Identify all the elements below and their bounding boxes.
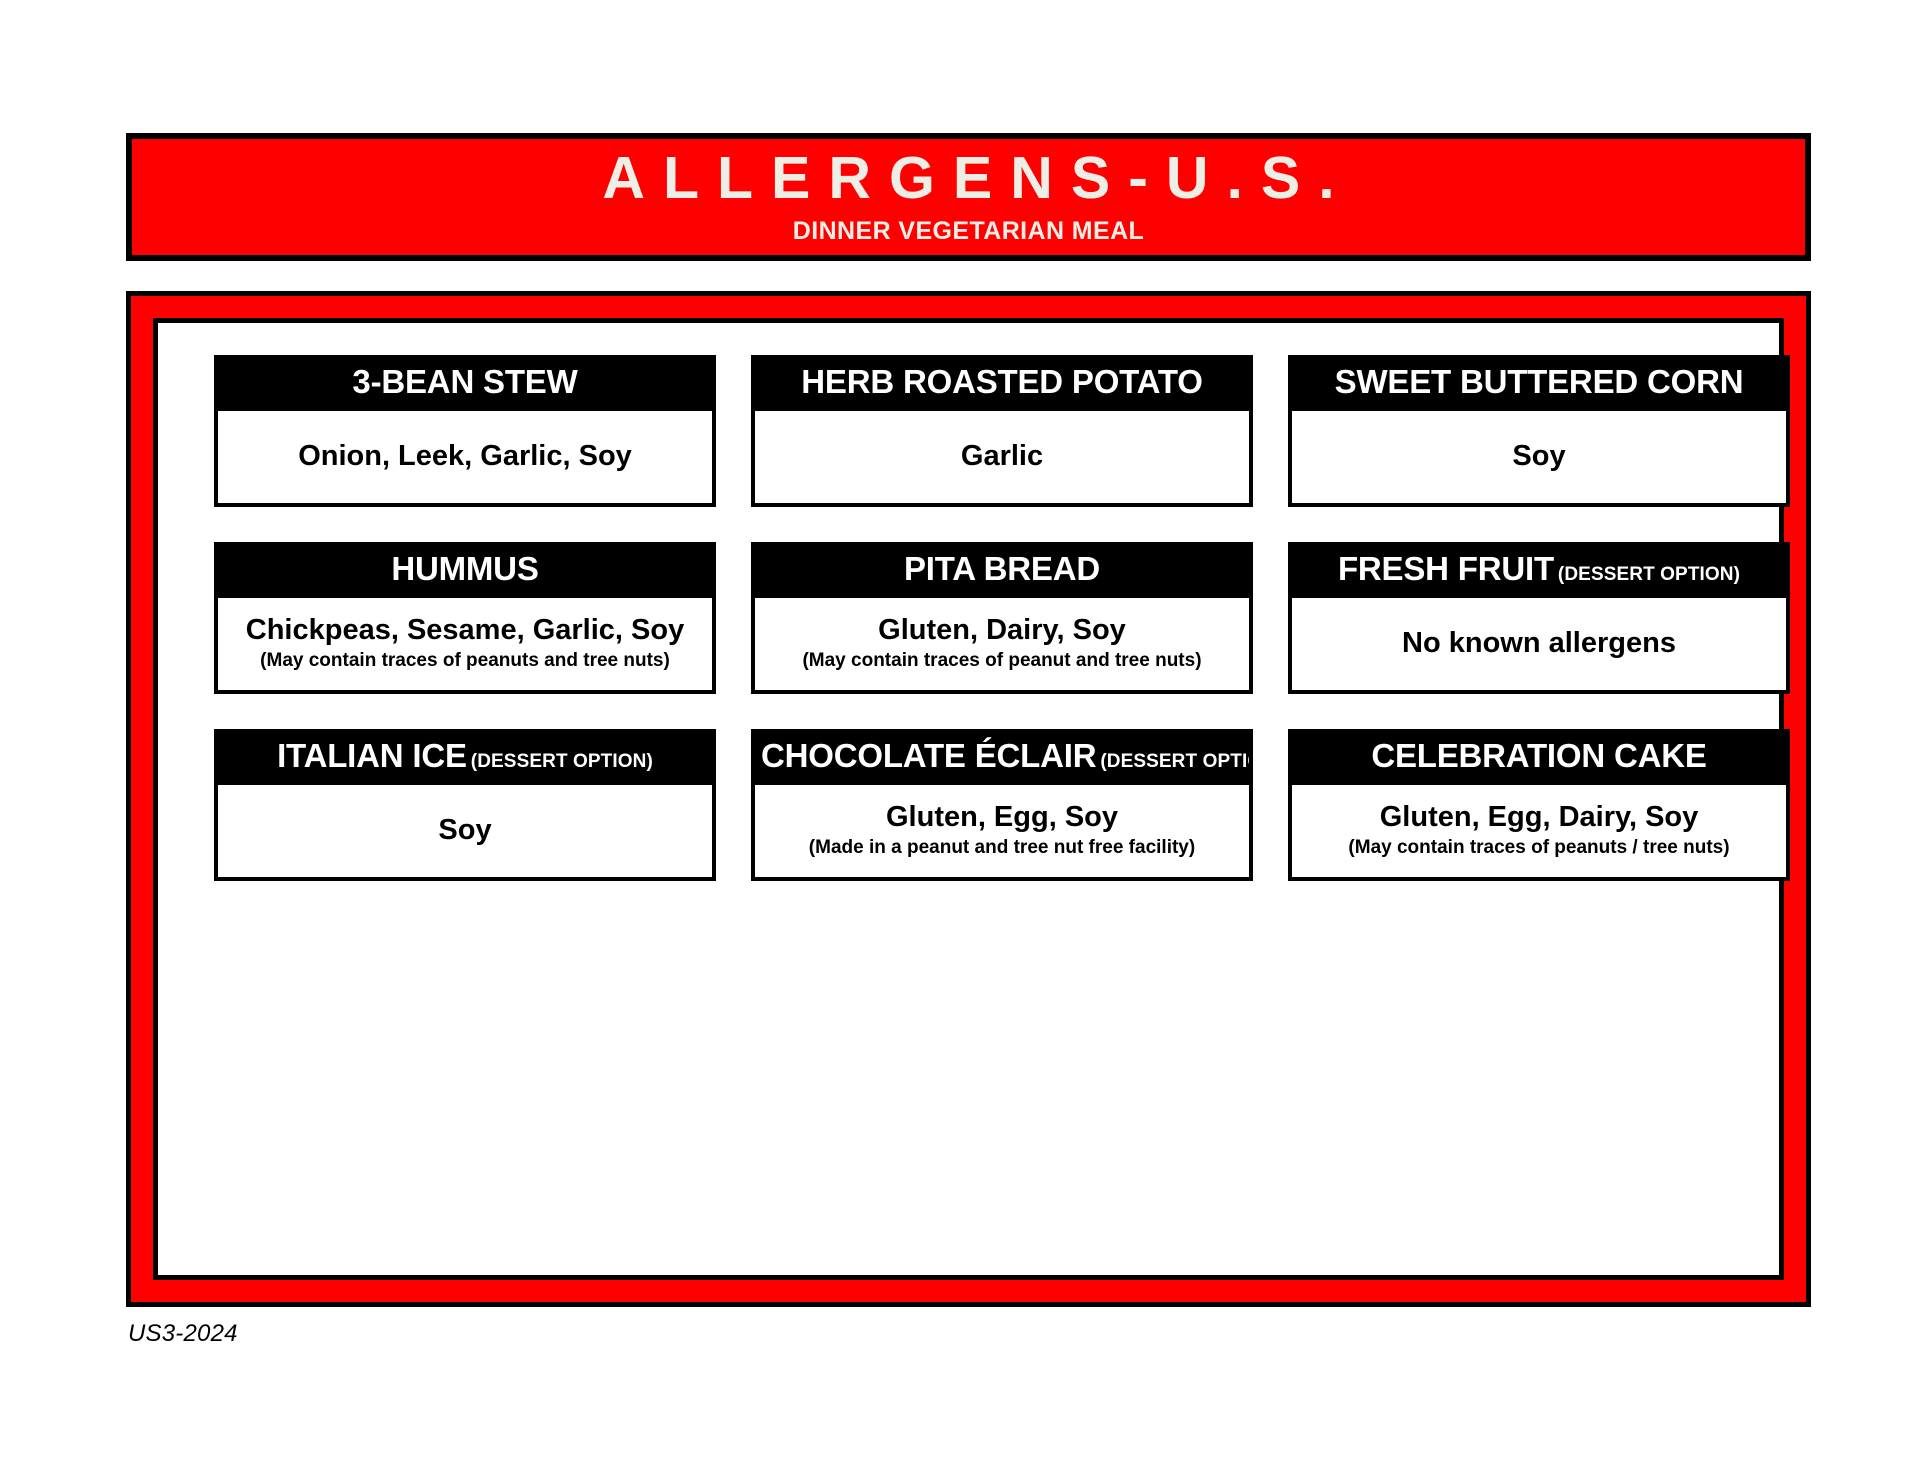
allergen-list: Garlic	[961, 441, 1043, 473]
menu-item-allergen-body: Garlic	[755, 407, 1249, 503]
menu-item-header: HUMMUS	[218, 546, 712, 594]
content-frame-outer: 3-BEAN STEWOnion, Leek, Garlic, SoyHERB …	[126, 291, 1811, 1307]
menu-item-header: CHOCOLATE ÉCLAIR(DESSERT OPTION)	[755, 733, 1249, 781]
menu-item-card: CHOCOLATE ÉCLAIR(DESSERT OPTION)Gluten, …	[751, 729, 1253, 881]
document-code: US3-2024	[128, 1320, 238, 1348]
menu-item-header: ITALIAN ICE(DESSERT OPTION)	[218, 733, 712, 781]
menu-item-header: HERB ROASTED POTATO	[755, 359, 1249, 407]
content-frame-inner: 3-BEAN STEWOnion, Leek, Garlic, SoyHERB …	[153, 318, 1784, 1280]
menu-item-allergen-body: Chickpeas, Sesame, Garlic, Soy(May conta…	[218, 594, 712, 690]
menu-item-name: CELEBRATION CAKE	[1371, 737, 1706, 774]
menu-item-card: CELEBRATION CAKEGluten, Egg, Dairy, Soy(…	[1288, 729, 1790, 881]
allergen-list: Soy	[438, 815, 491, 847]
menu-item-name: SWEET BUTTERED CORN	[1335, 363, 1744, 400]
menu-item-name: HERB ROASTED POTATO	[801, 363, 1202, 400]
allergen-note: (May contain traces of peanuts / tree nu…	[1348, 838, 1729, 859]
menu-item-suffix: (DESSERT OPTION)	[471, 751, 653, 772]
menu-item-suffix: (DESSERT OPTION)	[1100, 751, 1249, 772]
menu-item-suffix: (DESSERT OPTION)	[1558, 564, 1740, 585]
menu-item-name: ITALIAN ICE	[277, 737, 467, 774]
menu-item-allergen-body: Gluten, Egg, Dairy, Soy(May contain trac…	[1292, 781, 1786, 877]
menu-item-allergen-body: Onion, Leek, Garlic, Soy	[218, 407, 712, 503]
allergen-list: Gluten, Egg, Soy	[886, 802, 1118, 834]
menu-item-name: HUMMUS	[391, 550, 538, 587]
menu-item-name: PITA BREAD	[904, 550, 1100, 587]
allergen-list: No known allergens	[1402, 628, 1676, 660]
menu-item-allergen-body: Soy	[218, 781, 712, 877]
menu-item-card: HERB ROASTED POTATOGarlic	[751, 355, 1253, 507]
menu-item-allergen-body: Gluten, Egg, Soy(Made in a peanut and tr…	[755, 781, 1249, 877]
menu-item-card: PITA BREADGluten, Dairy, Soy(May contain…	[751, 542, 1253, 694]
allergen-list: Gluten, Egg, Dairy, Soy	[1380, 802, 1699, 834]
menu-item-name: CHOCOLATE ÉCLAIR	[761, 737, 1096, 774]
menu-item-header: PITA BREAD	[755, 546, 1249, 594]
header-banner: ALLERGENS-U.S. DINNER VEGETARIAN MEAL	[126, 133, 1811, 261]
menu-item-header: FRESH FRUIT(DESSERT OPTION)	[1292, 546, 1786, 594]
menu-item-header: 3-BEAN STEW	[218, 359, 712, 407]
menu-item-allergen-body: Gluten, Dairy, Soy(May contain traces of…	[755, 594, 1249, 690]
menu-item-grid: 3-BEAN STEWOnion, Leek, Garlic, SoyHERB …	[182, 349, 1755, 881]
allergen-note: (May contain traces of peanut and tree n…	[802, 651, 1201, 672]
menu-item-header: SWEET BUTTERED CORN	[1292, 359, 1786, 407]
allergen-note: (Made in a peanut and tree nut free faci…	[809, 838, 1195, 859]
menu-item-allergen-body: Soy	[1292, 407, 1786, 503]
menu-item-allergen-body: No known allergens	[1292, 594, 1786, 690]
menu-item-card: SWEET BUTTERED CORNSoy	[1288, 355, 1790, 507]
allergen-list: Chickpeas, Sesame, Garlic, Soy	[246, 615, 684, 647]
allergen-note: (May contain traces of peanuts and tree …	[260, 651, 670, 672]
menu-item-card: 3-BEAN STEWOnion, Leek, Garlic, Soy	[214, 355, 716, 507]
page-subtitle: DINNER VEGETARIAN MEAL	[793, 219, 1144, 244]
menu-item-card: FRESH FRUIT(DESSERT OPTION)No known alle…	[1288, 542, 1790, 694]
menu-item-card: ITALIAN ICE(DESSERT OPTION)Soy	[214, 729, 716, 881]
menu-item-name: 3-BEAN STEW	[352, 363, 577, 400]
page-title: ALLERGENS-U.S.	[584, 149, 1352, 208]
allergen-poster: ALLERGENS-U.S. DINNER VEGETARIAN MEAL 3-…	[0, 0, 1920, 1484]
allergen-list: Onion, Leek, Garlic, Soy	[298, 441, 632, 473]
menu-item-name: FRESH FRUIT	[1338, 550, 1554, 587]
menu-item-card: HUMMUSChickpeas, Sesame, Garlic, Soy(May…	[214, 542, 716, 694]
menu-item-header: CELEBRATION CAKE	[1292, 733, 1786, 781]
allergen-list: Gluten, Dairy, Soy	[878, 615, 1126, 647]
allergen-list: Soy	[1512, 441, 1565, 473]
